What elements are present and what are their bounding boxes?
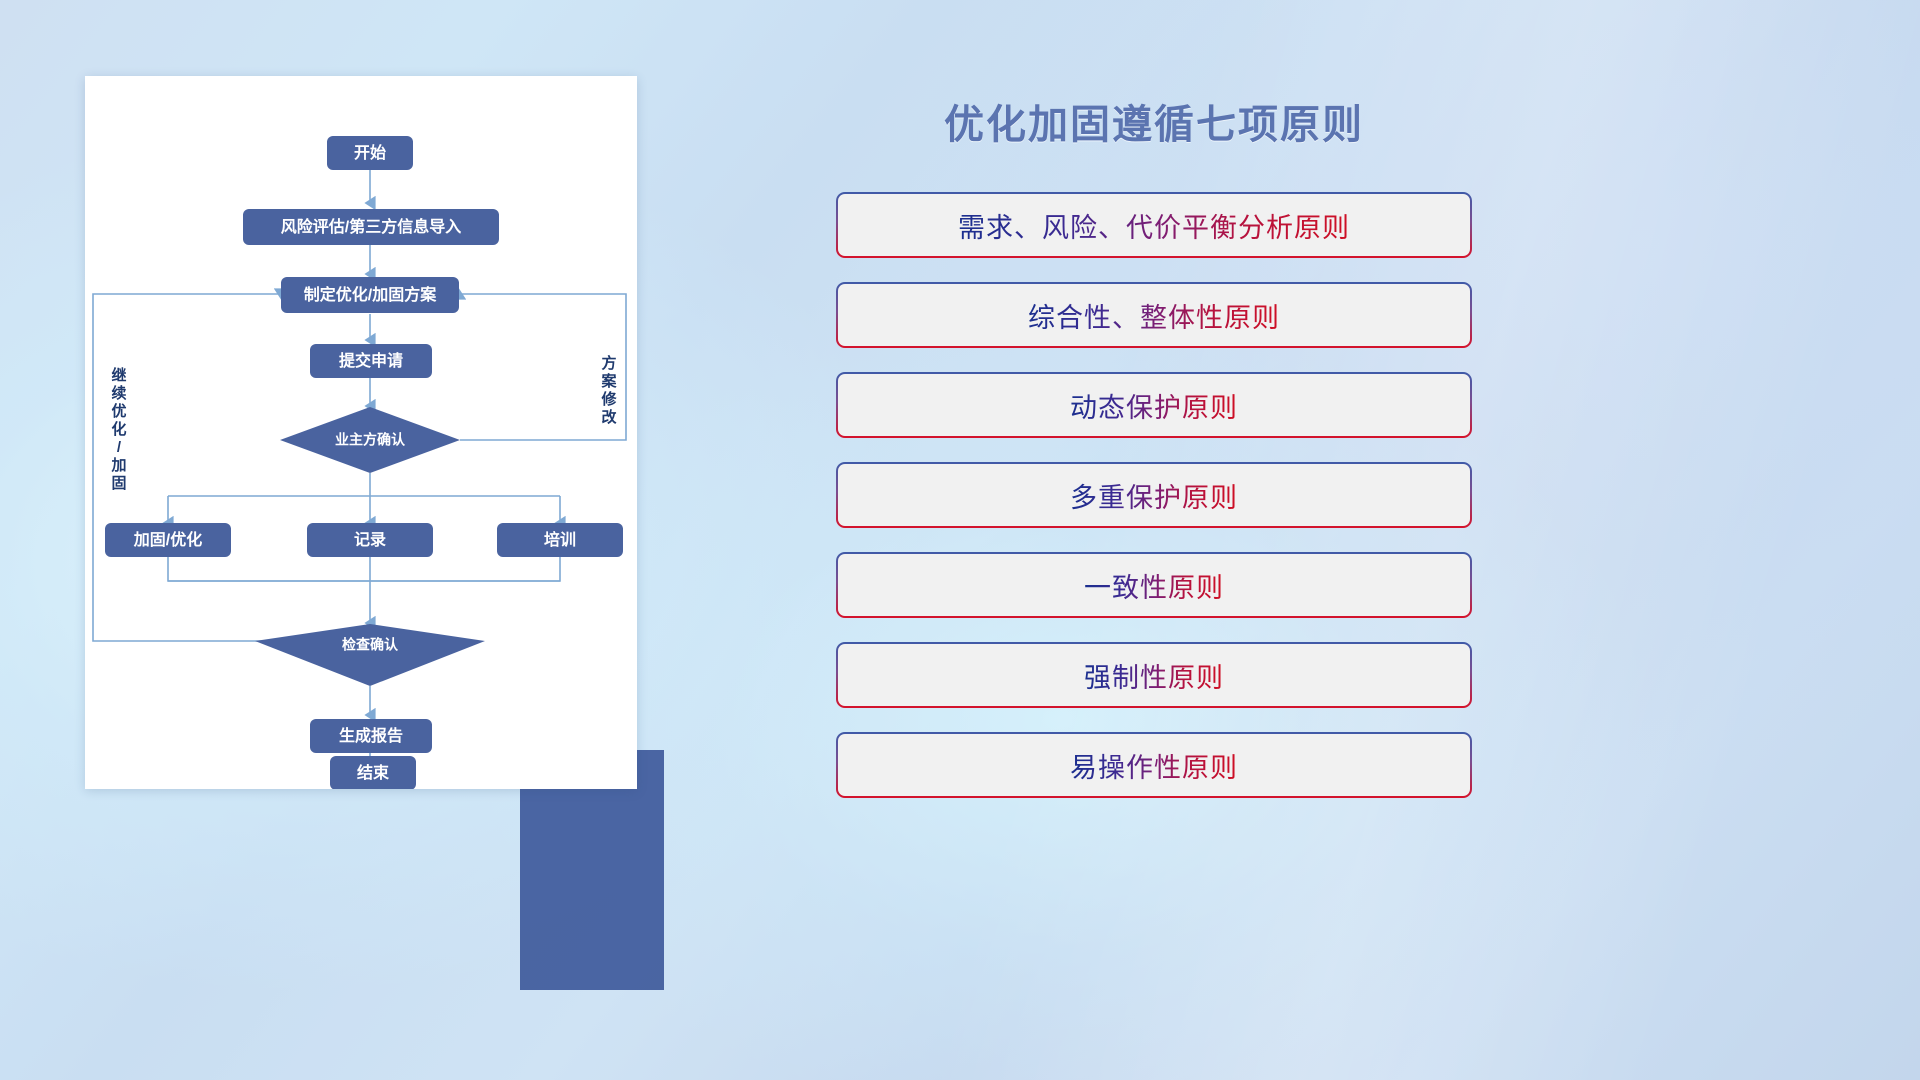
principle-item[interactable]: 多重保护原则	[836, 462, 1472, 528]
page-title: 优化加固遵循七项原则	[836, 80, 1472, 150]
principle-item[interactable]: 需求、风险、代价平衡分析原则	[836, 192, 1472, 258]
principle-item-inner: 易操作性原则	[838, 734, 1470, 796]
principle-item[interactable]: 综合性、整体性原则	[836, 282, 1472, 348]
principle-label: 强制性原则	[1084, 656, 1224, 695]
principle-item-inner: 综合性、整体性原则	[838, 284, 1470, 346]
flow-node-generate-report[interactable]: 生成报告	[310, 719, 432, 753]
principle-label: 多重保护原则	[1070, 476, 1238, 515]
flow-node-risk-assessment-label: 风险评估/第三方信息导入	[281, 217, 461, 236]
flow-node-make-plan[interactable]: 制定优化/加固方案	[281, 277, 459, 313]
principle-item[interactable]: 动态保护原则	[836, 372, 1472, 438]
flow-node-owner-confirm-label: 业主方确认	[335, 432, 406, 448]
flow-node-start-label: 开始	[354, 143, 386, 162]
principle-label: 一致性原则	[1084, 566, 1224, 605]
flow-node-submit-application-label: 提交申请	[339, 351, 403, 370]
flow-node-risk-assessment[interactable]: 风险评估/第三方信息导入	[243, 209, 499, 245]
principle-item-inner: 动态保护原则	[838, 374, 1470, 436]
principle-label: 动态保护原则	[1070, 386, 1238, 425]
flowchart-card: 开始 风险评估/第三方信息导入 制定优化/加固方案 提交申请 业主方确认 加固/…	[85, 76, 637, 789]
flowchart-diagram: 开始 风险评估/第三方信息导入 制定优化/加固方案 提交申请 业主方确认 加固/…	[85, 76, 637, 789]
principle-item[interactable]: 易操作性原则	[836, 732, 1472, 798]
flow-node-generate-report-label: 生成报告	[339, 726, 403, 745]
flow-node-record[interactable]: 记录	[307, 523, 433, 557]
principle-item-inner: 一致性原则	[838, 554, 1470, 616]
principle-item-inner: 多重保护原则	[838, 464, 1470, 526]
flow-edge-label-right: 方案修改	[600, 354, 617, 426]
flow-node-owner-confirm[interactable]: 业主方确认	[280, 407, 460, 473]
flow-node-check-confirm-label: 检查确认	[342, 637, 399, 653]
principles-list: 需求、风险、代价平衡分析原则 综合性、整体性原则 动态保护原则 多重保护原则 一…	[836, 192, 1836, 798]
flow-node-check-confirm[interactable]: 检查确认	[255, 624, 485, 686]
flow-edge-label-left: 继续优化/加固	[110, 366, 126, 492]
flow-node-start[interactable]: 开始	[327, 136, 413, 170]
flow-node-training[interactable]: 培训	[497, 523, 623, 557]
flow-node-end-label: 结束	[356, 763, 390, 782]
principle-label: 需求、风险、代价平衡分析原则	[958, 206, 1350, 245]
flow-node-end[interactable]: 结束	[330, 756, 416, 789]
flow-node-submit-application[interactable]: 提交申请	[310, 344, 432, 378]
principle-item-inner: 需求、风险、代价平衡分析原则	[838, 194, 1470, 256]
flow-node-training-label: 培训	[544, 530, 576, 549]
principle-label: 易操作性原则	[1070, 746, 1238, 785]
flow-node-record-label: 记录	[354, 531, 386, 549]
principle-item[interactable]: 一致性原则	[836, 552, 1472, 618]
flow-node-reinforce-label: 加固/优化	[133, 530, 202, 549]
principle-label: 综合性、整体性原则	[1028, 296, 1280, 335]
principles-panel: 优化加固遵循七项原则 需求、风险、代价平衡分析原则 综合性、整体性原则 动态保护…	[836, 80, 1836, 1010]
flow-node-reinforce[interactable]: 加固/优化	[105, 523, 231, 557]
flow-node-make-plan-label: 制定优化/加固方案	[304, 285, 437, 304]
principle-item-inner: 强制性原则	[838, 644, 1470, 706]
principle-item[interactable]: 强制性原则	[836, 642, 1472, 708]
